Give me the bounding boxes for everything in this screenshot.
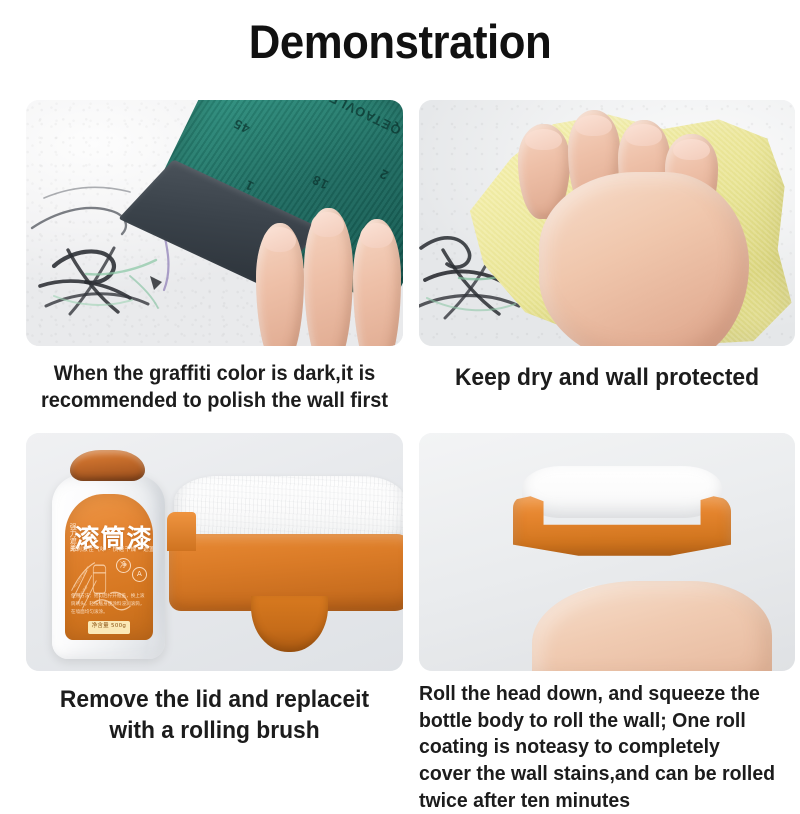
step-2-caption: Keep dry and wall protected bbox=[428, 362, 785, 393]
label-badge-1: 净 bbox=[116, 558, 131, 573]
bottle-cap-icon bbox=[70, 450, 145, 481]
roller-stem-icon bbox=[251, 596, 328, 652]
step-2-photo bbox=[419, 100, 795, 346]
step-card-3: 强力遮盖 滚筒漆 无刺激性气味 · 快速干燥 · 遮盖力强 · 环保配方 bbox=[26, 433, 403, 746]
step-1-caption: When the graffiti color is dark,it is re… bbox=[35, 360, 393, 415]
paint-bottle-icon: 强力遮盖 滚筒漆 无刺激性气味 · 快速干燥 · 遮盖力强 · 环保配方 bbox=[52, 450, 165, 659]
label-subtitle-cn: 无刺激性气味 · 快速干燥 · 遮盖力强 · 环保配方 bbox=[70, 545, 149, 553]
step-card-1: 细砂 QETAOVLED 45 18 2 1 bbox=[26, 100, 403, 415]
label-fine-print: 使用方法：摇匀后拧开瓶盖，换上滚筒刷头，轻按瓶身使涂料浸润滚筒，在墙面均匀滚涂。 bbox=[71, 593, 147, 616]
step-1-photo: 细砂 QETAOVLED 45 18 2 1 bbox=[26, 100, 403, 346]
roller-brush-icon bbox=[513, 466, 731, 566]
svg-text:ROLLER PAINT: ROLLER PAINT bbox=[73, 565, 90, 589]
hand-icon bbox=[252, 189, 403, 346]
step-4-photo bbox=[419, 433, 795, 671]
product-label: 强力遮盖 滚筒漆 无刺激性气味 · 快速干燥 · 遮盖力强 · 环保配方 bbox=[65, 494, 153, 641]
label-badge-2: A bbox=[132, 567, 147, 582]
step-card-2: Keep dry and wall protected bbox=[419, 100, 795, 393]
hand-icon bbox=[502, 120, 765, 346]
steps-grid: 细砂 QETAOVLED 45 18 2 1 bbox=[0, 100, 800, 800]
step-4-caption: Roll the head down, and squeeze the bott… bbox=[419, 681, 776, 814]
page-title: Demonstration bbox=[28, 14, 772, 69]
label-net-weight: 净含量 500g bbox=[88, 621, 130, 634]
roller-nap-icon bbox=[522, 466, 723, 518]
roller-brush-icon bbox=[169, 476, 403, 652]
step-3-photo: 强力遮盖 滚筒漆 无刺激性气味 · 快速干燥 · 遮盖力强 · 环保配方 bbox=[26, 433, 403, 671]
step-3-caption: Remove the lid and replaceit with a roll… bbox=[35, 685, 393, 746]
demonstration-page: Demonstration bbox=[0, 0, 800, 800]
step-card-4: Roll the head down, and squeeze the bott… bbox=[419, 433, 795, 814]
